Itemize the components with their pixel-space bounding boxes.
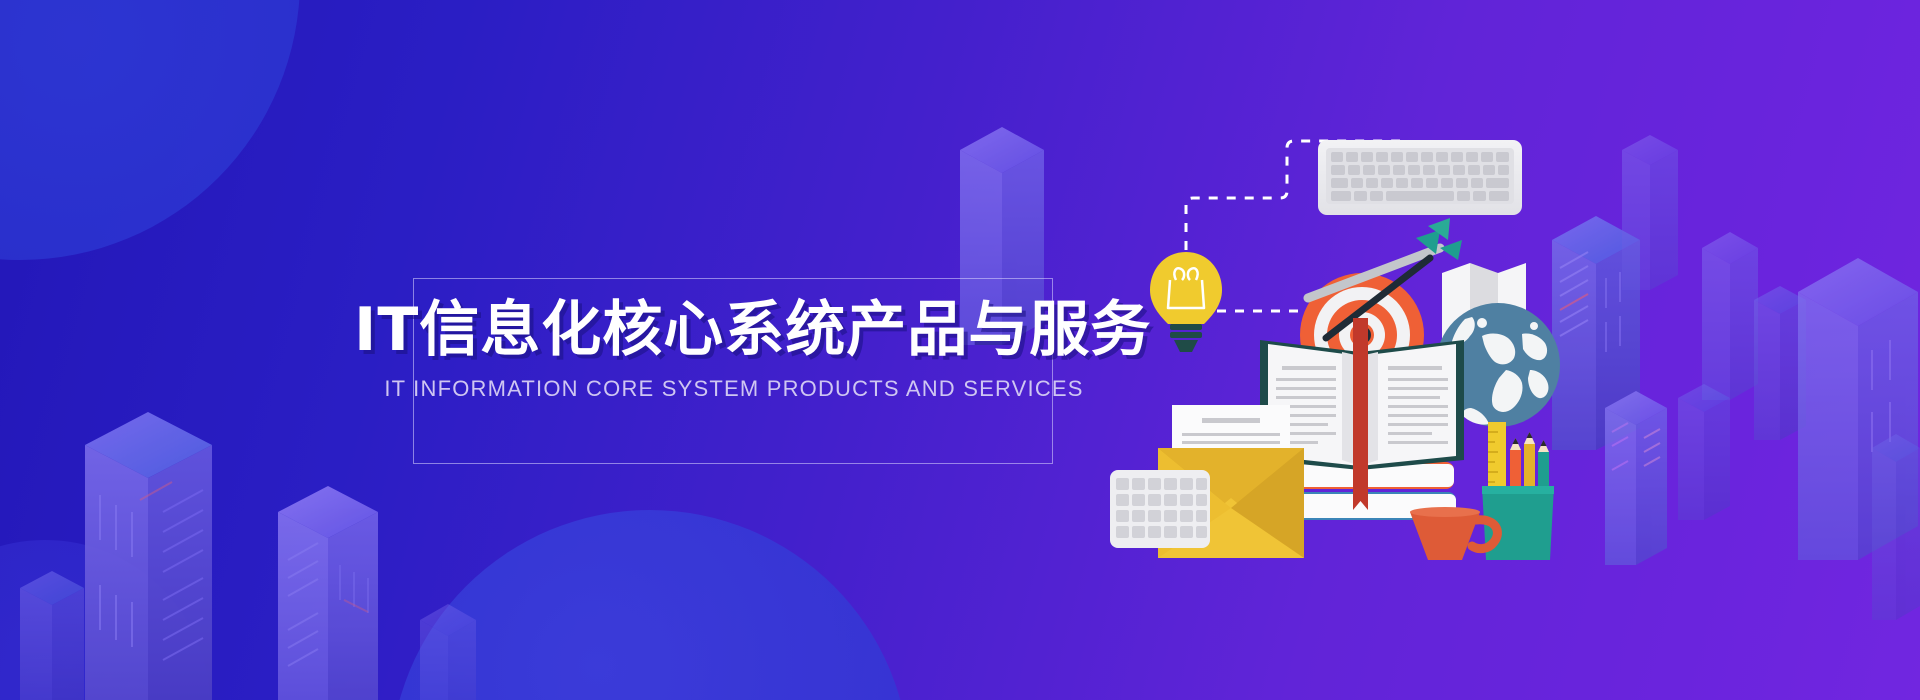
keyboard-large bbox=[1318, 140, 1522, 215]
tower-right-6 bbox=[1678, 384, 1730, 520]
it-illustration bbox=[1110, 130, 1560, 570]
banner-root: IT信息化核心系统产品与服务 IT INFORMATION CORE SYSTE… bbox=[0, 0, 1920, 700]
lightbulb-icon bbox=[1150, 252, 1222, 352]
tower-far-right bbox=[1872, 434, 1920, 620]
decor-circle-bottom-center bbox=[390, 510, 910, 700]
bookmark-ribbon bbox=[1353, 318, 1368, 510]
tower-right-1 bbox=[1552, 216, 1640, 450]
headline-wrap: IT信息化核心系统产品与服务 IT INFORMATION CORE SYSTE… bbox=[354, 299, 1114, 402]
tower-bottom-center bbox=[420, 604, 476, 700]
illustration-svg bbox=[1110, 130, 1560, 570]
page-subtitle: IT INFORMATION CORE SYSTEM PRODUCTS AND … bbox=[354, 376, 1114, 402]
page-title: IT信息化核心系统产品与服务 bbox=[354, 299, 1114, 362]
tower-right-4 bbox=[1754, 286, 1806, 440]
tower-right-2 bbox=[1622, 135, 1678, 290]
decor-circle-top-left bbox=[0, 0, 300, 260]
tower-right-3 bbox=[1702, 232, 1758, 400]
tower-right-7 bbox=[1605, 391, 1667, 565]
tower-left-3 bbox=[20, 571, 84, 700]
keyboard-small bbox=[1110, 470, 1210, 548]
tower-left-2 bbox=[278, 486, 378, 700]
tower-left-1 bbox=[85, 412, 212, 700]
headline-frame: IT信息化核心系统产品与服务 IT INFORMATION CORE SYSTE… bbox=[413, 278, 1053, 464]
tower-right-5 bbox=[1798, 258, 1918, 560]
decor-circle-bottom-left bbox=[0, 540, 210, 700]
